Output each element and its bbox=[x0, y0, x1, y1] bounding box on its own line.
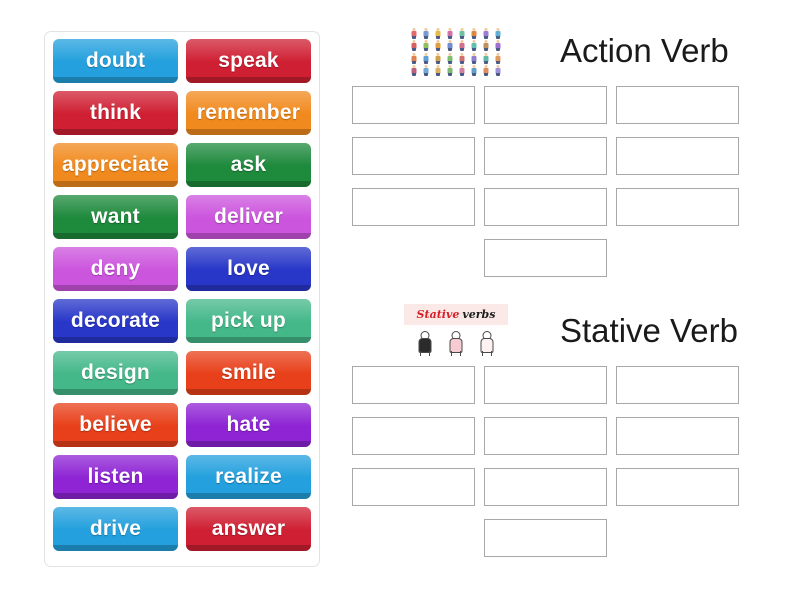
word-tile[interactable]: deliver bbox=[186, 195, 311, 239]
drop-zone[interactable] bbox=[484, 366, 607, 404]
stative-caption-banner: Stative verbs bbox=[404, 304, 508, 325]
cartoon-person-icon bbox=[432, 64, 443, 75]
group-title-action: Action Verb bbox=[560, 27, 729, 75]
drop-zone[interactable] bbox=[352, 137, 475, 175]
word-tile[interactable]: speak bbox=[186, 39, 311, 83]
cartoon-person-icon bbox=[481, 52, 492, 63]
drop-zone-grid-stative bbox=[352, 366, 772, 557]
cartoon-person-icon bbox=[469, 27, 480, 38]
drop-zone[interactable] bbox=[352, 86, 475, 124]
word-tile[interactable]: listen bbox=[53, 455, 178, 499]
word-tile-label: smile bbox=[221, 361, 276, 385]
group-title-stative: Stative Verb bbox=[560, 307, 738, 355]
word-tile-label: deliver bbox=[214, 205, 283, 229]
cartoon-person-icon bbox=[493, 27, 504, 38]
cartoon-person-icon bbox=[481, 64, 492, 75]
group-header-stative: Stative verbs bbox=[352, 302, 772, 364]
cartoon-person-icon bbox=[444, 52, 455, 63]
drop-zone[interactable] bbox=[616, 86, 739, 124]
word-tile[interactable]: doubt bbox=[53, 39, 178, 83]
drop-zone[interactable] bbox=[484, 188, 607, 226]
word-tile[interactable]: deny bbox=[53, 247, 178, 291]
word-tile[interactable]: ask bbox=[186, 143, 311, 187]
cartoon-person-icon bbox=[469, 52, 480, 63]
word-tile-label: realize bbox=[215, 465, 282, 489]
word-tile-grid: doubtspeakthinkrememberappreciateaskwant… bbox=[53, 39, 311, 551]
drop-zone[interactable] bbox=[484, 239, 607, 277]
word-tile[interactable]: hate bbox=[186, 403, 311, 447]
cartoon-person-icon bbox=[493, 52, 504, 63]
cartoon-person-icon bbox=[481, 27, 492, 38]
action-verbs-illustration bbox=[404, 24, 508, 78]
group-stative-verb: Stative verbs bbox=[352, 302, 772, 557]
word-tile-label: decorate bbox=[71, 309, 160, 333]
sketch-figure-shrug bbox=[417, 330, 434, 356]
word-tile[interactable]: realize bbox=[186, 455, 311, 499]
drop-zone[interactable] bbox=[352, 468, 475, 506]
word-tile[interactable]: remember bbox=[186, 91, 311, 135]
drop-zone[interactable] bbox=[484, 86, 607, 124]
cartoon-person-icon bbox=[444, 27, 455, 38]
stative-verbs-illustration: Stative verbs bbox=[404, 304, 508, 358]
cartoon-person-icon bbox=[408, 39, 419, 50]
cartoon-person-icon bbox=[457, 39, 468, 50]
stative-sketch-row bbox=[404, 325, 508, 358]
word-tile-label: drive bbox=[90, 517, 141, 541]
drop-zone[interactable] bbox=[616, 366, 739, 404]
word-tile-label: ask bbox=[231, 153, 267, 177]
cartoon-person-icon bbox=[408, 52, 419, 63]
word-tile-label: design bbox=[81, 361, 150, 385]
cartoon-person-icon bbox=[444, 64, 455, 75]
stative-thumb-inner: Stative verbs bbox=[404, 304, 508, 358]
cartoon-person-icon bbox=[444, 39, 455, 50]
cartoon-person-icon bbox=[469, 64, 480, 75]
cartoon-person-icon bbox=[493, 39, 504, 50]
word-tile-label: pick up bbox=[211, 309, 286, 333]
cartoon-person-icon bbox=[432, 52, 443, 63]
sketch-legs-icon bbox=[451, 351, 461, 356]
stative-caption-word1: Stative bbox=[417, 308, 460, 321]
action-figure-grid bbox=[404, 24, 508, 78]
word-tile[interactable]: drive bbox=[53, 507, 178, 551]
drop-zone[interactable] bbox=[484, 468, 607, 506]
drop-zone[interactable] bbox=[616, 188, 739, 226]
cartoon-person-icon bbox=[420, 39, 431, 50]
word-tile-label: hate bbox=[227, 413, 271, 437]
cartoon-person-icon bbox=[420, 64, 431, 75]
drop-zone[interactable] bbox=[484, 519, 607, 557]
drop-zone[interactable] bbox=[484, 137, 607, 175]
cartoon-person-icon bbox=[432, 27, 443, 38]
drop-zone[interactable] bbox=[484, 417, 607, 455]
word-bank-panel: doubtspeakthinkrememberappreciateaskwant… bbox=[44, 31, 320, 567]
drop-zone[interactable] bbox=[616, 417, 739, 455]
word-tile-label: remember bbox=[197, 101, 300, 125]
word-tile-label: doubt bbox=[86, 49, 145, 73]
drop-zone[interactable] bbox=[352, 417, 475, 455]
word-tile[interactable]: think bbox=[53, 91, 178, 135]
group-action-verb: Action Verb bbox=[352, 22, 772, 277]
word-tile[interactable]: love bbox=[186, 247, 311, 291]
word-tile[interactable]: pick up bbox=[186, 299, 311, 343]
sketch-figure-couple bbox=[447, 330, 464, 356]
drop-zone[interactable] bbox=[352, 366, 475, 404]
word-tile-label: speak bbox=[218, 49, 279, 73]
stative-caption-word2: verbs bbox=[462, 308, 495, 321]
drop-zone[interactable] bbox=[352, 188, 475, 226]
cartoon-person-icon bbox=[481, 39, 492, 50]
word-tile-label: deny bbox=[91, 257, 141, 281]
cartoon-person-icon bbox=[457, 52, 468, 63]
word-tile-label: think bbox=[90, 101, 141, 125]
drop-zone[interactable] bbox=[616, 137, 739, 175]
drop-zone-grid-action bbox=[352, 86, 772, 277]
drop-zone[interactable] bbox=[616, 468, 739, 506]
word-tile-label: listen bbox=[87, 465, 143, 489]
word-tile[interactable]: answer bbox=[186, 507, 311, 551]
word-tile-label: love bbox=[227, 257, 270, 281]
cartoon-person-icon bbox=[457, 64, 468, 75]
word-tile[interactable]: smile bbox=[186, 351, 311, 395]
word-tile[interactable]: design bbox=[53, 351, 178, 395]
group-header-action: Action Verb bbox=[352, 22, 772, 84]
word-tile[interactable]: appreciate bbox=[53, 143, 178, 187]
word-tile-label: believe bbox=[79, 413, 152, 437]
cartoon-person-icon bbox=[493, 64, 504, 75]
cartoon-person-icon bbox=[432, 39, 443, 50]
word-tile-label: appreciate bbox=[62, 153, 169, 177]
sketch-legs-icon bbox=[420, 351, 430, 356]
cartoon-person-icon bbox=[469, 39, 480, 50]
cartoon-person-icon bbox=[408, 64, 419, 75]
word-tile[interactable]: decorate bbox=[53, 299, 178, 343]
word-tile[interactable]: want bbox=[53, 195, 178, 239]
word-tile-label: want bbox=[91, 205, 140, 229]
sketch-figure-standing bbox=[478, 330, 495, 356]
cartoon-person-icon bbox=[420, 27, 431, 38]
cartoon-person-icon bbox=[408, 27, 419, 38]
cartoon-person-icon bbox=[457, 27, 468, 38]
word-tile-label: answer bbox=[212, 517, 286, 541]
word-tile[interactable]: believe bbox=[53, 403, 178, 447]
sketch-legs-icon bbox=[482, 351, 492, 356]
cartoon-person-icon bbox=[420, 52, 431, 63]
